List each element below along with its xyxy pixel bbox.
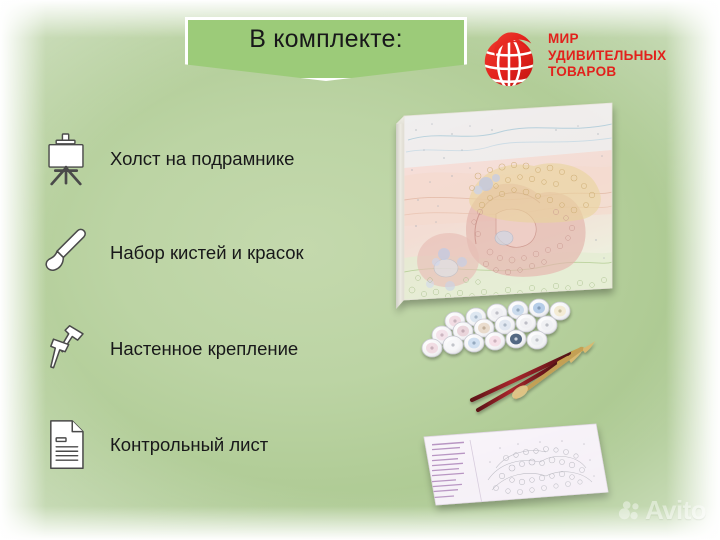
feature-item-canvas: Холст на подрамнике: [38, 128, 294, 190]
feature-label: Настенное крепление: [110, 337, 298, 361]
brand-line-1: МИР: [548, 31, 666, 47]
brand-logo: МИР УДИВИТЕЛЬНЫХ ТОВАРОВ: [478, 26, 704, 98]
avito-dots-icon: [618, 500, 640, 522]
feature-label: Холст на подрамнике: [110, 147, 294, 171]
red-globe-icon: [478, 27, 540, 89]
feature-item-control-sheet: Контрольный лист: [38, 414, 268, 476]
feature-label: Набор кистей и красок: [110, 241, 304, 265]
avito-watermark: Avito: [618, 495, 706, 526]
page-title: В комплекте:: [185, 25, 467, 54]
easel-icon: [38, 128, 94, 190]
avito-wordmark: Avito: [645, 495, 706, 526]
feature-label: Контрольный лист: [110, 433, 268, 457]
title-banner: В комплекте:: [185, 17, 467, 81]
brand-line-3: ТОВАРОВ: [548, 64, 666, 80]
nails-icon: [38, 318, 94, 380]
paintbrush-icon: [38, 222, 94, 284]
brand-logo-text: МИР УДИВИТЕЛЬНЫХ ТОВАРОВ: [548, 26, 666, 80]
product-infographic: В комплекте:: [0, 0, 720, 540]
document-icon: [38, 414, 94, 476]
brand-line-2: УДИВИТЕЛЬНЫХ: [548, 48, 666, 64]
feature-item-brushes: Набор кистей и красок: [38, 222, 304, 284]
feature-item-wall-mount: Настенное крепление: [38, 318, 298, 380]
